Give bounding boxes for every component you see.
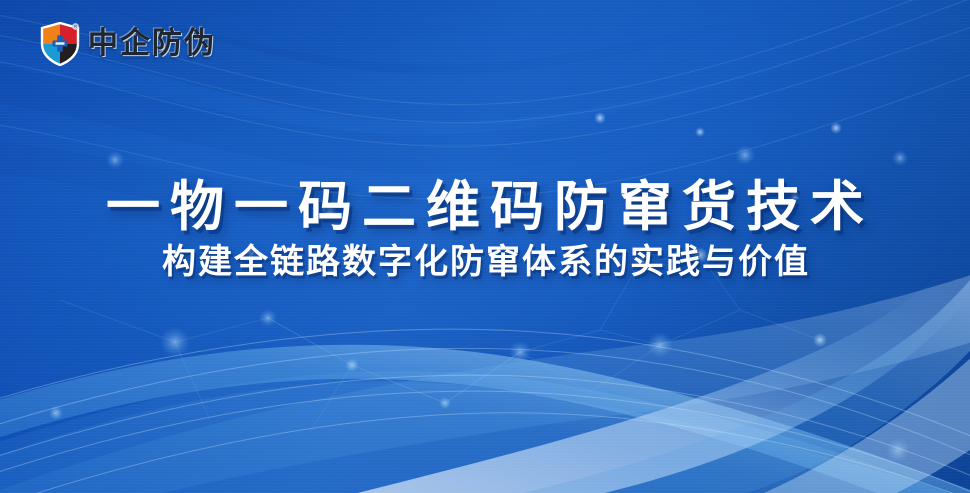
page-subtitle: 构建全链路数字化防窜体系的实践与价值	[0, 244, 970, 281]
shield-logo-icon: R	[40, 22, 80, 66]
page-title: 一物一码二维码防窜货技术	[0, 178, 970, 236]
banner-root: R 中企防伪 一物一码二维码防窜货技术 构建全链路数字化防窜体系的实践与价值	[0, 0, 970, 493]
brand-name: 中企防伪	[88, 29, 216, 59]
brand-logo[interactable]: R 中企防伪	[40, 20, 216, 68]
svg-text:R: R	[74, 24, 77, 29]
headline-block: 一物一码二维码防窜货技术 构建全链路数字化防窜体系的实践与价值	[0, 178, 970, 282]
